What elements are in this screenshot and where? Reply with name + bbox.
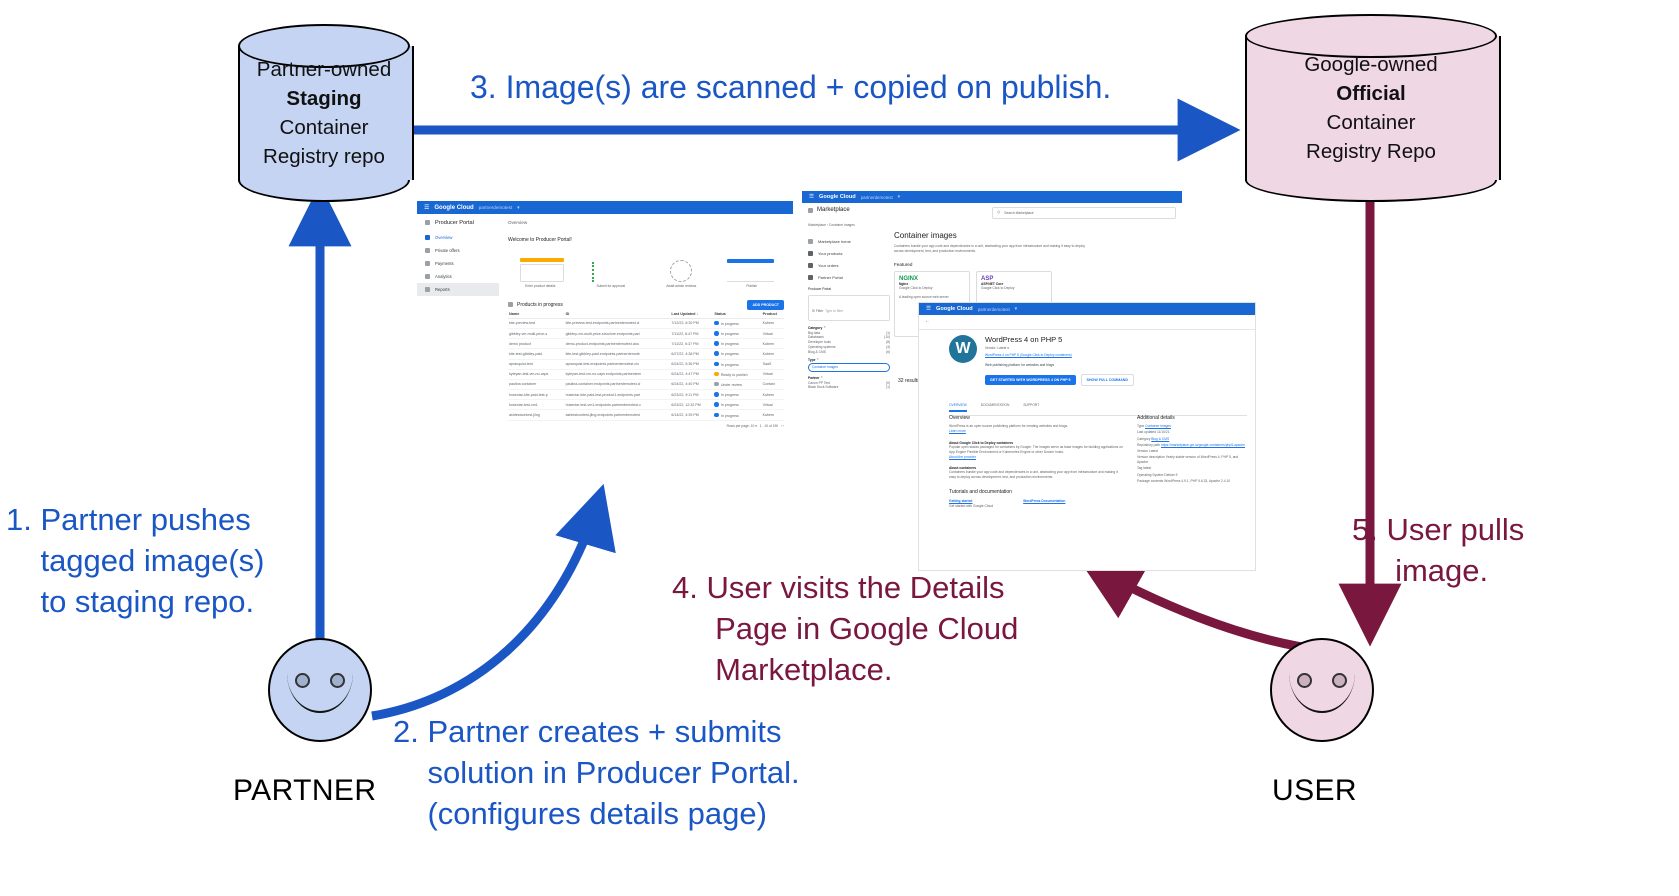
detail-row: Last updated 11/10/21 <box>1137 430 1249 435</box>
tab-documentation[interactable]: DOCUMENTATION <box>981 403 1010 412</box>
gcp-brand: Google Cloud <box>434 205 473 211</box>
orders-icon <box>808 263 813 268</box>
sidebar-item-analytics[interactable]: Analytics <box>417 270 499 283</box>
flow-step-4 <box>719 259 783 282</box>
avatar-smile <box>1289 673 1355 713</box>
col-product[interactable]: Product <box>762 310 784 319</box>
status-icon <box>714 372 719 377</box>
detail-label: Version description <box>1137 455 1166 459</box>
learn-more-link[interactable]: Learn more <box>949 429 1124 434</box>
cell-product: Virtual <box>762 328 784 338</box>
cell-lastupdated: 6/14/22, 4:39 PM <box>670 410 713 420</box>
sidebar-section-producer-portal: Producer Portal <box>808 287 890 292</box>
detail-row: Tag latest <box>1137 466 1249 471</box>
cell-id: gibbley-vm-multi-price-structure.endpoin… <box>565 328 671 338</box>
cell-lastupdated: 6/24/22, 4:40 PM <box>670 379 713 389</box>
partner-icon <box>808 275 813 280</box>
col-last-updated[interactable]: Last Updated ↓ <box>670 310 713 319</box>
status-badge: Under review <box>721 383 742 387</box>
breadcrumb[interactable]: Marketplace › Container images <box>808 223 855 228</box>
producer-portal-screenshot[interactable]: ☰ Google Cloud partnerdemotest ▾ Produce… <box>417 201 793 446</box>
status-icon <box>714 382 719 387</box>
sidebar-item-overview[interactable]: Overview <box>417 231 499 244</box>
facet-item[interactable]: Container images <box>808 363 890 372</box>
cell-name: gibbley-vm-multi-price-s <box>508 328 565 338</box>
cell-product: Virtual <box>762 400 784 410</box>
details-heading: Additional details <box>1137 415 1249 421</box>
col-name[interactable]: Name <box>508 310 565 319</box>
table-row[interactable]: huseniar-test-vm1huseniar-test-vm1.endpo… <box>508 400 784 410</box>
sidebar-item-your-products[interactable]: Your products <box>808 247 890 259</box>
filter-icon: ☰ <box>812 309 815 313</box>
tab-overview[interactable]: OVERVIEW <box>949 403 967 412</box>
show-full-command-button[interactable]: SHOW FULL COMMAND <box>1081 374 1134 386</box>
products-icon <box>808 251 813 256</box>
cell-name: huseniar-test-vm1 <box>508 400 565 410</box>
detail-label: Package contents <box>1137 479 1164 483</box>
product-header: W WordPress 4 on PHP 5 Vendor: Latest ▾ … <box>949 335 1247 386</box>
status-badge: In progress <box>721 393 739 397</box>
detail-row: Version Latest <box>1137 449 1249 454</box>
project-selector[interactable]: partnerdemotest <box>978 307 1010 312</box>
avatar-smile <box>287 673 353 713</box>
status-icon <box>714 321 719 326</box>
divider <box>919 329 1255 330</box>
marketplace-sidebar: Marketplace home Your products Your orde… <box>808 235 890 481</box>
status-icon <box>714 362 719 367</box>
offers-icon <box>425 248 430 253</box>
hamburger-icon[interactable]: ☰ <box>424 204 429 211</box>
partner-label: PARTNER <box>233 774 376 808</box>
chevron-down-icon[interactable]: ▾ <box>1015 306 1018 312</box>
detail-row: Category Blog & CMS <box>1137 437 1249 442</box>
gcp-topbar: ☰ Google Cloud partnerdemotest ▾ <box>802 191 1182 203</box>
cell-product: Virtual <box>762 369 784 379</box>
cell-lastupdated: 6/23/22, 9:11 PM <box>670 390 713 400</box>
cell-product: SaaS <box>762 359 784 369</box>
status-badge: In progress <box>721 322 739 326</box>
products-table: Name ID Last Updated ↓ Status Product ki… <box>508 310 784 421</box>
producer-portal-main: Overview Welcome to Producer Portal! Ent… <box>499 214 793 446</box>
back-arrow-icon[interactable]: ← <box>925 318 930 324</box>
onboarding-flow <box>510 252 782 282</box>
featured-label: Featured <box>894 262 1178 267</box>
subtitle-link[interactable]: WordPress 4 on PHP 5 (Google Click to De… <box>985 353 1247 358</box>
marketplace-facets: Category ⌃Big data(1)Databases(10)Develo… <box>808 326 890 390</box>
additional-details-column: Additional details Type Container images… <box>1137 415 1249 485</box>
hamburger-icon[interactable]: ☰ <box>809 194 814 200</box>
status-icon <box>714 413 719 418</box>
wordpress-docs-link[interactable]: WordPress Documentation <box>1023 499 1065 509</box>
chevron-down-icon[interactable]: ▾ <box>898 194 901 200</box>
staging-line-2: Staging <box>238 84 410 113</box>
facet-label: Black Duck Software <box>808 385 838 390</box>
cell-product: Kubern <box>762 349 784 359</box>
sidebar-item-reports[interactable]: Reports <box>417 283 499 296</box>
table-row[interactable]: kyteyan-test-vm-no-capskyteyan-test-vm-n… <box>508 369 784 379</box>
cart-icon <box>808 208 813 213</box>
results-count: 32 results <box>898 378 920 384</box>
facet-count: (1) <box>886 385 890 390</box>
facet-label: Blog & CMS <box>808 350 826 355</box>
page-title: Container images <box>894 231 1178 240</box>
home-icon <box>808 239 813 244</box>
user-avatar <box>1270 638 1374 742</box>
user-label: USER <box>1272 774 1357 808</box>
status-icon <box>714 351 719 356</box>
facet-label: Container images <box>812 365 838 370</box>
detail-row: Package contents WordPress 4.9.1, PHP 5.… <box>1137 479 1249 484</box>
cell-name: demo product <box>508 339 565 349</box>
cell-product: Kubern <box>762 390 784 400</box>
analytics-icon <box>425 274 430 279</box>
table-row[interactable]: apranquist-testapranquist-test-endpoints… <box>508 359 784 369</box>
step3-text: 3. Image(s) are scanned + copied on publ… <box>470 66 1111 108</box>
project-selector[interactable]: partnerdemotest <box>861 195 893 200</box>
cell-lastupdated: 7/11/22, 6:37 PM <box>670 339 713 349</box>
detail-value: Debian 9 <box>1164 473 1177 477</box>
home-icon <box>425 235 430 240</box>
facet-count: (6) <box>886 350 890 355</box>
project-selector[interactable]: partnerdemotest <box>479 205 512 210</box>
vendor-label: Vendor: <box>985 346 996 350</box>
cell-id: demo-product-endpoints.partnerdemotest.c… <box>565 339 671 349</box>
cell-product: Kubern <box>762 318 784 328</box>
sidebar-item-payments[interactable]: Payments <box>417 257 499 270</box>
list-icon <box>508 302 513 307</box>
get-started-button[interactable]: GET STARTED WITH WORDPRESS 4 ON PHP 5 <box>985 375 1076 385</box>
producer-portal-sidebar: Producer Portal Overview Private offers … <box>417 214 499 446</box>
cell-name: kyteyan-test-vm-no-caps <box>508 369 565 379</box>
gcp-brand: Google Cloud <box>936 306 973 312</box>
cell-lastupdated: 6/24/22, 4:47 PM <box>670 369 713 379</box>
status-badge: In progress <box>721 403 739 407</box>
cell-name: apranquist-test <box>508 359 565 369</box>
official-line-4: Registry Repo <box>1245 137 1497 166</box>
col-status[interactable]: Status <box>713 310 761 319</box>
table-row[interactable]: demo productdemo-product-endpoints.partn… <box>508 339 784 349</box>
detail-label: Repository path <box>1137 443 1161 447</box>
table-row[interactable]: huseniar-kite-paid-test-phuseniar-kite-p… <box>508 390 784 400</box>
section-title: Products in progress <box>517 302 563 308</box>
status-badge: In progress <box>721 342 739 346</box>
cell-name: kite-test-gibbley-paid <box>508 349 565 359</box>
status-icon <box>714 392 719 397</box>
search-marketplace-input[interactable]: ⚲ Search Marketplace <box>992 207 1176 219</box>
chevron-down-icon[interactable]: ▾ <box>517 205 520 211</box>
official-repo-label: Google-owned Official Container Registry… <box>1245 50 1497 166</box>
onboarding-flow-labels: Enter product details Submit for approva… <box>508 284 784 289</box>
flow-step-2 <box>580 262 644 282</box>
staging-repo-cylinder: Partner-owned Staging Container Registry… <box>238 24 410 202</box>
sidebar-item-private-offers[interactable]: Private offers <box>417 244 499 257</box>
partner-avatar <box>268 638 372 742</box>
table-row[interactable]: ashtestcontest-jlingashtestcontest-jling… <box>508 410 784 420</box>
facet-item[interactable]: Black Duck Software(1) <box>808 385 890 390</box>
cell-name: ashtestcontest-jling <box>508 410 565 420</box>
cell-lastupdated: 6/24/22, 5:36 PM <box>670 359 713 369</box>
status-badge: In progress <box>721 332 739 336</box>
details-tabs: OVERVIEW DOCUMENTATION SUPPORT <box>949 403 1247 416</box>
section-0-text: Popular open stacks packaged for contain… <box>949 445 1124 455</box>
flow-step-3 <box>649 260 713 282</box>
staging-line-4: Registry repo <box>238 142 410 171</box>
official-line-1: Google-owned <box>1245 50 1497 79</box>
arrow-step4 <box>1090 566 1322 650</box>
step4-text: 4. User visits the Details Page in Googl… <box>672 568 1018 691</box>
detail-value: 11/10/21 <box>1157 430 1170 434</box>
details-overview-column: Overview WordPress is an open source pub… <box>949 415 1124 508</box>
cell-id: kite-test-gibbley-paid.endpoints.partner… <box>565 349 671 359</box>
marketplace-title: Marketplace <box>817 207 850 213</box>
status-badge: In progress <box>721 352 739 356</box>
status-icon <box>714 331 719 336</box>
table-row[interactable]: kite-test-gibbley-paidkite-test-gibbley-… <box>508 349 784 359</box>
official-repo-cylinder: Google-owned Official Container Registry… <box>1245 14 1497 202</box>
official-line-3: Container <box>1245 108 1497 137</box>
status-icon <box>714 341 719 346</box>
staging-repo-label: Partner-owned Staging Container Registry… <box>238 55 410 171</box>
col-id[interactable]: ID <box>565 310 671 319</box>
detail-label: Last updated <box>1137 430 1157 434</box>
table-header-row: Name ID Last Updated ↓ Status Product <box>508 310 784 319</box>
status-badge: Ready to publish <box>721 373 748 377</box>
cell-id: ashtestcontest-jling.endpoints.partnerde… <box>565 410 671 420</box>
add-product-button[interactable]: ADD PRODUCT <box>747 300 784 310</box>
product-name: WordPress 4 on PHP 5 <box>985 335 1247 344</box>
sidebar-item-your-orders[interactable]: Your orders <box>808 259 890 271</box>
status-badge: In progress <box>721 363 739 367</box>
cell-product: Kubern <box>762 339 784 349</box>
detail-row: Repository path https://marketplace.gcr.… <box>1137 443 1249 448</box>
page-description: Containers bundle your app code and depe… <box>894 244 1094 255</box>
facet-group: Partner ⌃Canon PP Test(0)Black Duck Soft… <box>808 376 890 390</box>
search-icon: ⚲ <box>997 210 1000 216</box>
detail-value: latest <box>1143 466 1151 470</box>
cell-id: kite-preview-test-endpoints.partnerdemot… <box>565 318 671 328</box>
cell-name: huseniar-kite-paid-test-p <box>508 390 565 400</box>
facet-group: Category ⌃Big data(1)Databases(10)Develo… <box>808 326 890 355</box>
tutorials-heading: Tutorials and documentation <box>949 489 1124 495</box>
detail-value[interactable]: Container images <box>1145 424 1171 428</box>
products-section-header: Products in progress ADD PRODUCT <box>508 300 784 310</box>
vendor-value[interactable]: Latest <box>997 346 1006 350</box>
about-provider-link[interactable]: About the provider <box>949 455 1124 460</box>
cell-lastupdated: 6/23/22, 12:32 PM <box>670 400 713 410</box>
sidebar-item-marketplace-home[interactable]: Marketplace home <box>808 235 890 247</box>
cell-name: paulina container <box>508 379 565 389</box>
filter-box[interactable]: ☰ Filter Type to filter <box>808 295 890 321</box>
detail-value[interactable]: Blog & CMS <box>1151 437 1169 441</box>
status-badge: In progress <box>721 414 739 418</box>
store-icon <box>425 220 430 225</box>
wordpress-logo-icon: W <box>949 335 977 363</box>
detail-row: Version description Yearly stable versio… <box>1137 455 1249 465</box>
cell-name: kite-preview-test <box>508 318 565 328</box>
cell-id: kyteyan-test-vm-no-caps.endpoints.partne… <box>565 369 671 379</box>
table-pagination[interactable]: Rows per page: 10 ▾ 1 - 10 of 190 ‹ › <box>508 424 784 429</box>
cell-lastupdated: 7/11/22, 6:47 PM <box>670 328 713 338</box>
details-page-screenshot[interactable]: ☰ Google Cloud partnerdemotest ▾ ← W Wor… <box>918 302 1256 571</box>
tab-support[interactable]: SUPPORT <box>1023 403 1039 412</box>
section-1-text: Containers bundle your app code and depe… <box>949 470 1124 480</box>
cell-lastupdated: 6/27/22, 4:38 PM <box>670 349 713 359</box>
staging-line-1: Partner-owned <box>238 55 410 84</box>
flow-step-1 <box>510 258 574 282</box>
producer-portal-title: Producer Portal <box>417 214 499 231</box>
detail-label: Operating System <box>1137 473 1164 477</box>
sidebar-item-partner-portal[interactable]: Partner Portal <box>808 271 890 283</box>
gcp-topbar: ☰ Google Cloud partnerdemotest ▾ <box>417 201 793 214</box>
reports-icon <box>425 287 430 292</box>
arrow-step2 <box>372 496 600 716</box>
hamburger-icon[interactable]: ☰ <box>926 306 931 312</box>
facet-item[interactable]: Blog & CMS(6) <box>808 350 890 355</box>
detail-label: Category <box>1137 437 1151 441</box>
marketplace-title-row: Marketplace <box>808 207 850 213</box>
cell-lastupdated: 7/12/22, 6:30 PM <box>670 318 713 328</box>
detail-value: WordPress 4.9.1, PHP 5.6.33, Apache 2.4.… <box>1164 479 1230 483</box>
detail-value[interactable]: https://marketplace.gcr.io/google-contai… <box>1161 443 1245 447</box>
table-row[interactable]: paulina containerpaulina-container.endpo… <box>508 379 784 389</box>
table-row[interactable]: gibbley-vm-multi-price-sgibbley-vm-multi… <box>508 328 784 338</box>
cell-id: huseniar-kite-paid-test-product1.endpoin… <box>565 390 671 400</box>
cell-product: Contain <box>762 379 784 389</box>
detail-value: Latest <box>1149 449 1158 453</box>
staging-line-3: Container <box>238 113 410 142</box>
cell-product: Kubern <box>762 410 784 420</box>
overview-heading: Overview <box>949 415 1124 421</box>
cell-id: paulina-container.endpoints.partnerdemot… <box>565 379 671 389</box>
tagline: Web publishing platform for websites and… <box>985 363 1247 368</box>
gcp-brand: Google Cloud <box>819 194 856 200</box>
facet-group: Type ⌃Container images <box>808 358 890 372</box>
table-row[interactable]: kite-preview-testkite-preview-test-endpo… <box>508 318 784 328</box>
detail-label: Type <box>1137 424 1145 428</box>
step5-text: 5. User pulls image. <box>1352 510 1524 592</box>
tutorial-sub: Get started with Google Cloud <box>949 504 993 509</box>
welcome-heading: Welcome to Producer Portal! <box>508 237 784 243</box>
step1-text: 1. Partner pushes tagged image(s) to sta… <box>6 500 264 623</box>
payments-icon <box>425 261 430 266</box>
gcp-topbar: ☰ Google Cloud partnerdemotest ▾ <box>919 303 1255 315</box>
step2-text: 2. Partner creates + submits solution in… <box>393 712 800 835</box>
cell-id: apranquist-test-endpoints.partnerdemotes… <box>565 359 671 369</box>
detail-label: Version <box>1137 449 1149 453</box>
detail-row: Type Container images <box>1137 424 1249 429</box>
official-line-2: Official <box>1245 79 1497 108</box>
cell-id: huseniar-test-vm1.endpoints.partnerdemot… <box>565 400 671 410</box>
search-placeholder: Search Marketplace <box>1004 211 1033 216</box>
status-icon <box>714 402 719 407</box>
detail-row: Operating System Debian 9 <box>1137 473 1249 478</box>
